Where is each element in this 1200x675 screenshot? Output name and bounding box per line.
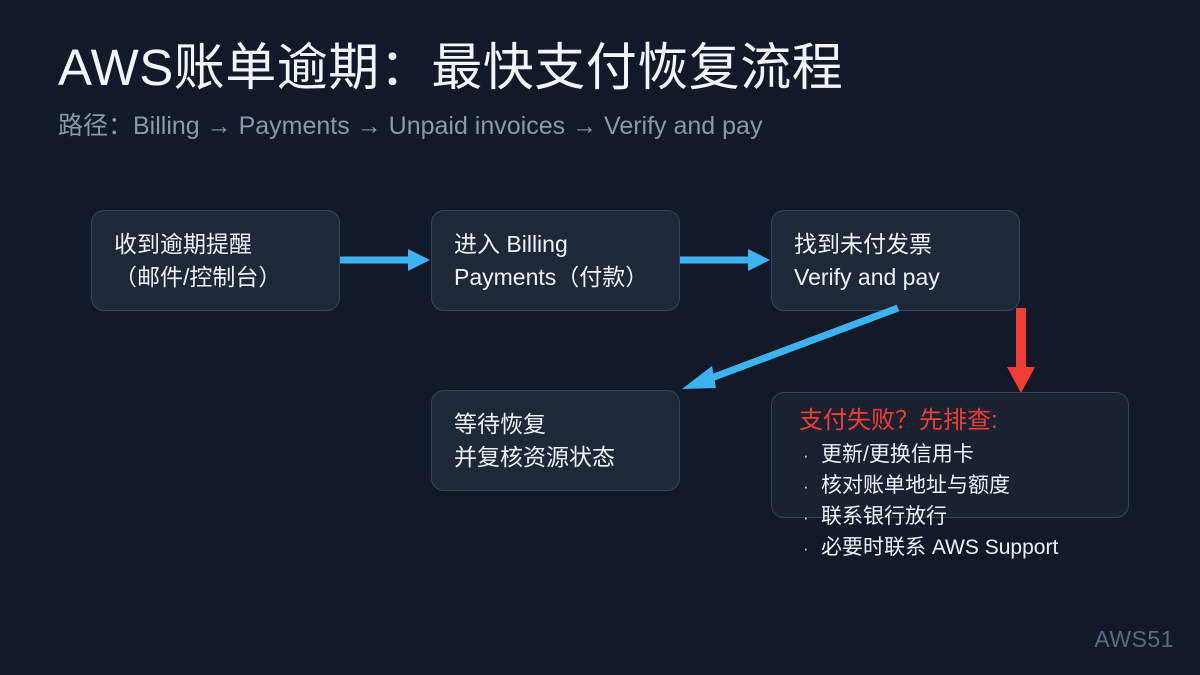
troubleshoot-content: 支付失败？先排查: · 更新/更换信用卡 · 核对账单地址与额度 · 联系银行放… (771, 392, 1171, 564)
arrow-node3-to-troubleshoot (1000, 305, 1042, 397)
slide-canvas: AWS账单逾期：最快支付恢复流程 路径：Billing → Payments →… (0, 0, 1200, 675)
breadcrumb-path: 路径：Billing → Payments → Unpaid invoices … (58, 110, 762, 142)
flow-node-line-1: 等待恢复 (432, 408, 679, 441)
watermark-label: AWS51 (1094, 626, 1174, 653)
arrow-node1-to-node2 (336, 240, 436, 280)
bullet-dot-icon: · (799, 441, 821, 471)
flow-node-line-2: Verify and pay (772, 261, 1019, 294)
flow-node-find-unpaid-invoice[interactable]: 找到未付发票 Verify and pay (771, 210, 1020, 311)
troubleshoot-item: · 必要时联系 AWS Support (799, 533, 1171, 564)
flow-node-line-2: Payments（付款） (432, 261, 679, 294)
troubleshoot-item-label: 核对账单地址与额度 (821, 471, 1010, 501)
flow-node-line-1: 找到未付发票 (772, 228, 1019, 261)
arrow-node2-to-node3 (676, 240, 776, 280)
flow-node-open-billing-payments[interactable]: 进入 Billing Payments（付款） (431, 210, 680, 311)
troubleshoot-item: · 更新/更换信用卡 (799, 440, 1171, 471)
troubleshoot-item-label: 联系银行放行 (821, 502, 947, 532)
flow-node-line-1: 收到逾期提醒 (92, 228, 339, 261)
flow-node-line-2: 并复核资源状态 (432, 441, 679, 474)
flow-node-receive-notice[interactable]: 收到逾期提醒 （邮件/控制台） (91, 210, 340, 311)
bullet-dot-icon: · (799, 534, 821, 564)
flow-node-wait-and-verify[interactable]: 等待恢复 并复核资源状态 (431, 390, 680, 491)
troubleshoot-heading: 支付失败？先排查: (799, 404, 1171, 438)
arrow-node3-to-node4 (670, 300, 910, 400)
troubleshoot-item-label: 更新/更换信用卡 (821, 440, 974, 470)
bullet-dot-icon: · (799, 503, 821, 533)
flow-node-line-2: （邮件/控制台） (92, 261, 339, 294)
page-title: AWS账单逾期：最快支付恢复流程 (58, 38, 843, 98)
troubleshoot-item-label: 必要时联系 AWS Support (821, 533, 1058, 563)
troubleshoot-item: · 核对账单地址与额度 (799, 471, 1171, 502)
troubleshoot-item: · 联系银行放行 (799, 502, 1171, 533)
flow-node-line-1: 进入 Billing (432, 228, 679, 261)
bullet-dot-icon: · (799, 472, 821, 502)
